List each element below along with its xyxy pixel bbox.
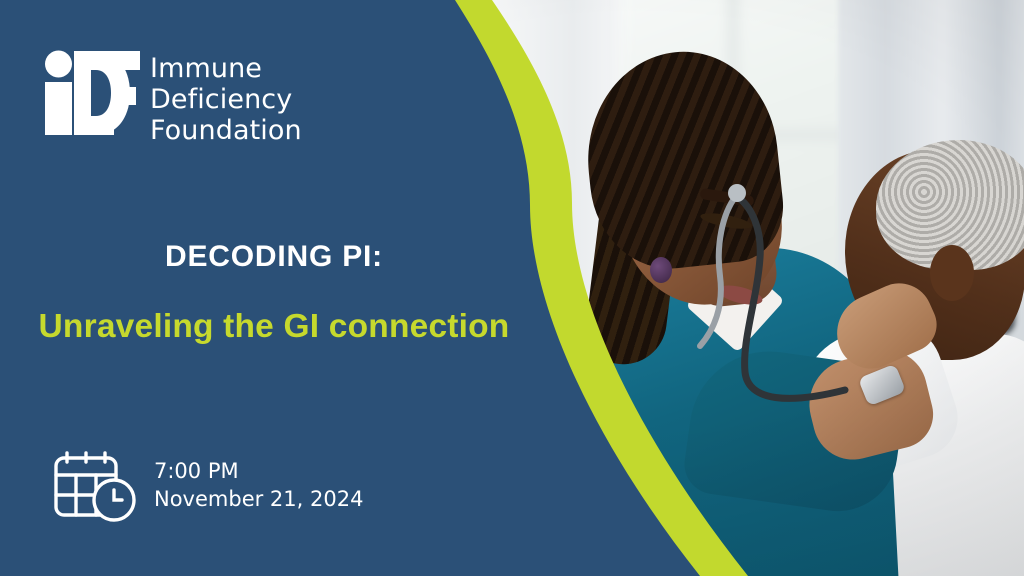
title-block: DECODING PI: Unraveling the GI connectio… (0, 240, 548, 346)
logo-line-2: Deficiency (150, 85, 302, 116)
calendar-clock-icon (52, 448, 140, 524)
idf-logo: Immune Deficiency Foundation (44, 50, 302, 146)
event-date: November 21, 2024 (154, 486, 363, 514)
event-datetime: 7:00 PM November 21, 2024 (52, 448, 363, 524)
logo-line-1: Immune (150, 54, 302, 85)
title-main: DECODING PI: (0, 240, 548, 274)
idf-monogram-icon (44, 50, 140, 136)
idf-logo-wordmark: Immune Deficiency Foundation (150, 50, 302, 146)
event-time: 7:00 PM (154, 458, 363, 486)
logo-line-3: Foundation (150, 116, 302, 147)
event-promo-slide: Immune Deficiency Foundation DECODING PI… (0, 0, 1024, 576)
event-datetime-text: 7:00 PM November 21, 2024 (154, 458, 363, 513)
title-subtitle: Unraveling the GI connection (0, 308, 548, 346)
